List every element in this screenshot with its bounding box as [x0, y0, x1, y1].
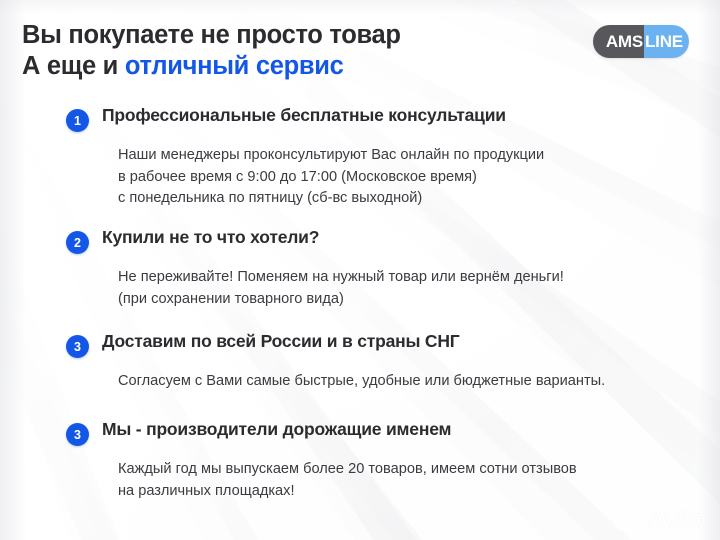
- logo-text-ams: AMS: [606, 33, 643, 50]
- logo-text-line: LINE: [645, 33, 683, 50]
- feature-body-3-line-1: Согласуем с Вами самые быстрые, удобные …: [63, 353, 720, 393]
- ams-line-logo: AMS LINE: [593, 25, 689, 58]
- feature-title-2: Купили не то что хотели?: [63, 226, 720, 249]
- feature-item-1: 1 Профессиональные бесплатные консультац…: [0, 104, 720, 210]
- feature-body-1-line-1: Наши менеджеры проконсультируют Вас онла…: [63, 127, 720, 167]
- logo-right-half: LINE: [644, 25, 689, 58]
- feature-badge-1: 1: [66, 109, 89, 132]
- headline-line-2-plain: А еще и: [22, 52, 125, 80]
- feature-title-1: Профессиональные бесплатные консультации: [63, 104, 720, 127]
- headline-line-1: Вы покупаете не просто товар: [22, 20, 582, 50]
- headline-line-2-accent: отличный сервис: [125, 52, 344, 80]
- feature-body-1-line-3: с понедельника по пятницу (сб-вс выходно…: [63, 188, 720, 210]
- logo-left-half: AMS: [593, 25, 644, 58]
- feature-title-4: Мы - производители дорожащие именем: [63, 418, 720, 441]
- banner-header: Вы покупаете не просто товар А еще и отл…: [22, 20, 582, 81]
- feature-item-4: 3 Мы - производители дорожащие именем Ка…: [0, 418, 720, 502]
- feature-body-2-line-2: (при сохранении товарного вида): [63, 289, 720, 311]
- avito-dots-icon: [613, 506, 643, 532]
- feature-badge-4: 3: [66, 423, 89, 446]
- feature-title-3: Доставим по всей России и в страны СНГ: [63, 330, 720, 353]
- feature-item-2: 2 Купили не то что хотели? Не переживайт…: [0, 226, 720, 310]
- feature-badge-3: 3: [66, 335, 89, 358]
- feature-badge-2: 2: [66, 231, 89, 254]
- feature-body-4-line-2: на различных площадках!: [63, 481, 720, 503]
- feature-item-3: 3 Доставим по всей России и в страны СНГ…: [0, 330, 720, 393]
- promo-banner: Вы покупаете не просто товар А еще и отл…: [0, 0, 720, 540]
- feature-body-4-line-1: Каждый год мы выпускаем более 20 товаров…: [63, 441, 720, 481]
- feature-body-2-line-1: Не переживайте! Поменяем на нужный товар…: [63, 249, 720, 289]
- avito-watermark: Avito: [613, 506, 706, 532]
- avito-watermark-text: Avito: [647, 507, 706, 532]
- feature-body-1-line-2: в рабочее время с 9:00 до 17:00 (Московс…: [63, 167, 720, 189]
- headline-line-2: А еще и отличный сервис: [22, 51, 582, 81]
